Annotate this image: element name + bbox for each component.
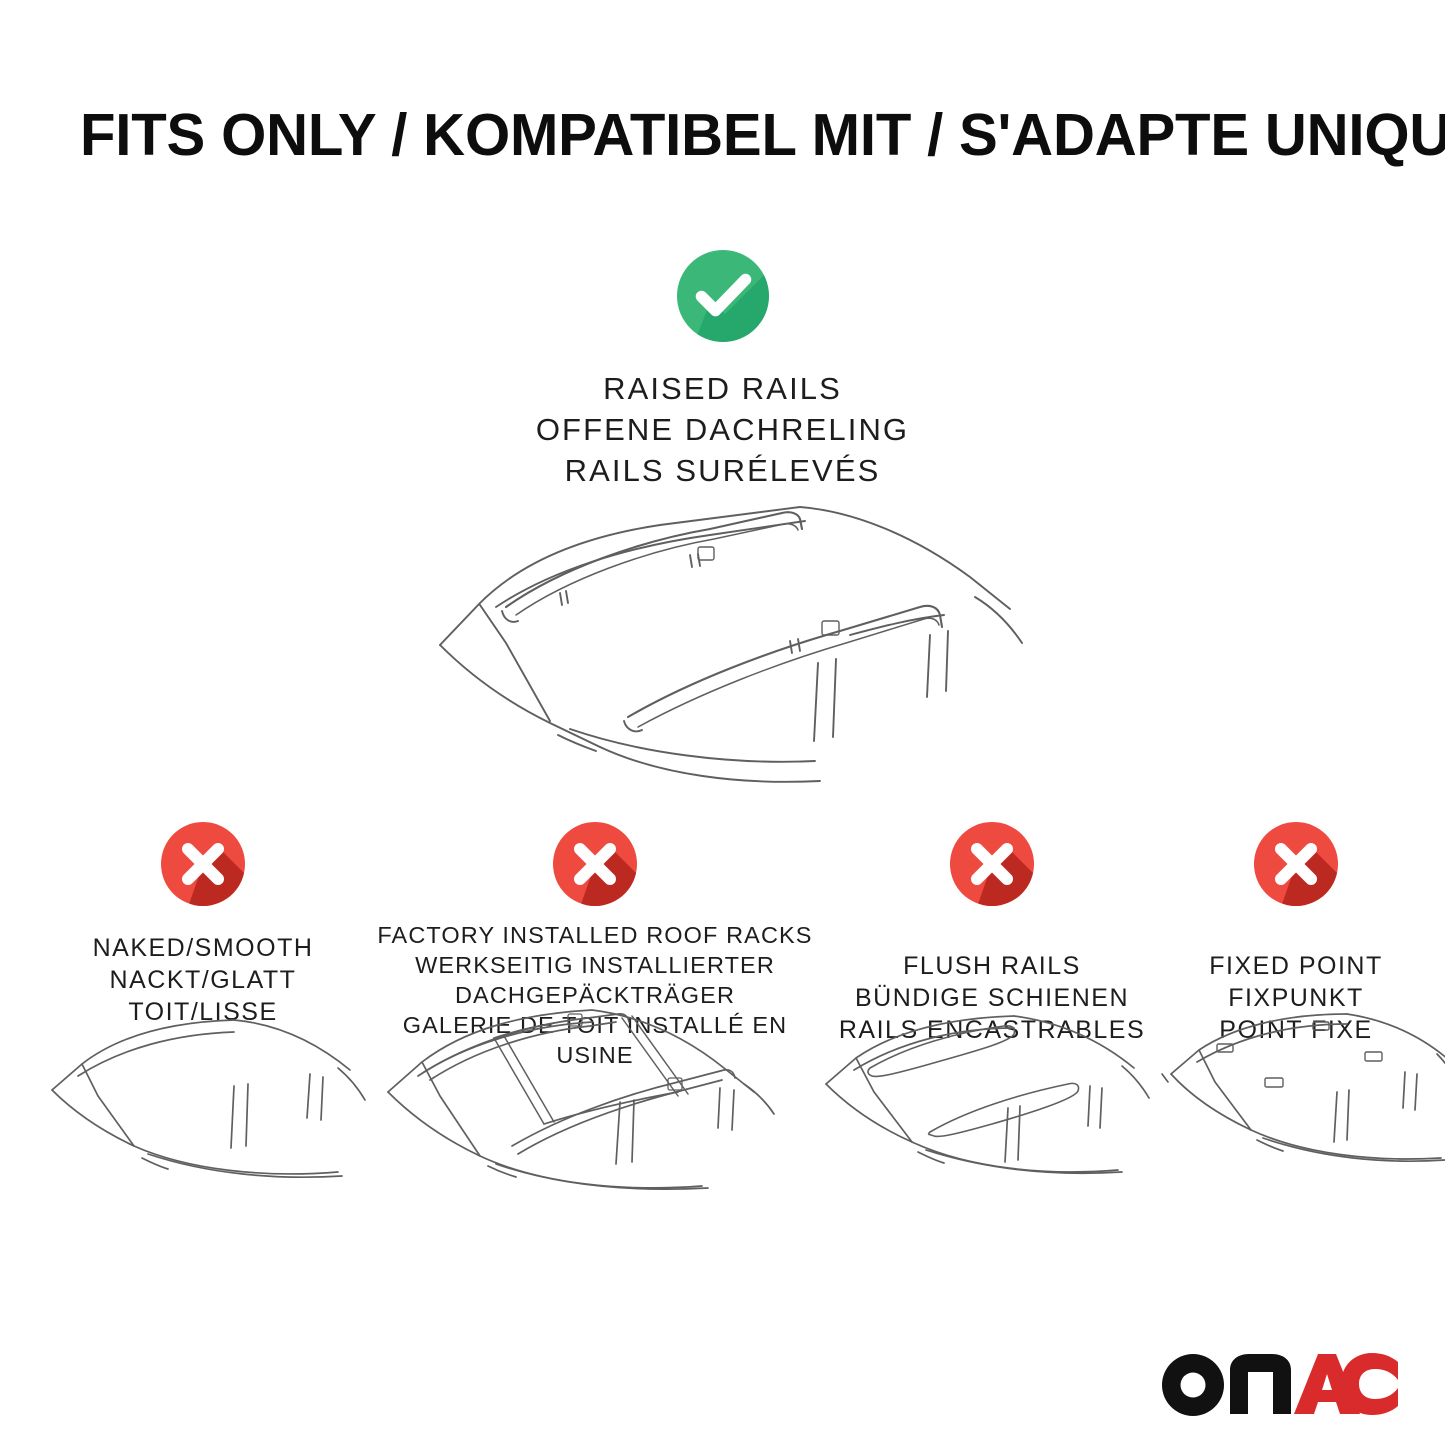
compatible-section: RAISED RAILS OFFENE DACHRELING RAILS SUR… (0, 246, 1445, 491)
check-circle-icon (673, 246, 773, 346)
option-label-line-1: NAKED/SMOOTH (38, 932, 368, 964)
car-roof-factory-racks-illustration (372, 996, 818, 1236)
omac-logo-letter-o (1162, 1354, 1224, 1416)
incompatible-option-naked-smooth: NAKED/SMOOTH NACKT/GLATT TOIT/LISSE (38, 818, 368, 1028)
compatible-label-line-2: OFFENE DACHRELING (0, 409, 1445, 450)
incompatible-sections: NAKED/SMOOTH NACKT/GLATT TOIT/LISSE (0, 818, 1445, 1238)
car-roof-naked-smooth-illustration (38, 1008, 368, 1238)
x-circle-icon (549, 818, 641, 910)
car-roof-raised-rails-illustration (410, 485, 1030, 785)
option-label-line-2: WERKSEITIG INSTALLIERTER (372, 950, 818, 980)
option-label-line-1: FACTORY INSTALLED ROOF RACKS (372, 920, 818, 950)
fitment-infographic: FITS ONLY / KOMPATIBEL MIT / S'ADAPTE UN… (0, 0, 1445, 1445)
car-roof-flush-rails-illustration (812, 1008, 1172, 1238)
omac-logo-letter-c (1341, 1353, 1398, 1415)
compatible-label-line-1: RAISED RAILS (0, 368, 1445, 409)
option-label-line-1: FLUSH RAILS (812, 950, 1172, 982)
page-title: FITS ONLY / KOMPATIBEL MIT / S'ADAPTE UN… (80, 103, 1361, 167)
x-circle-icon (1250, 818, 1342, 910)
incompatible-option-fixed-point: FIXED POINT FIXPUNKT POINT FIXE (1165, 818, 1427, 1046)
incompatible-option-flush-rails: FLUSH RAILS BÜNDIGE SCHIENEN RAILS ENCAS… (812, 818, 1172, 1046)
incompatible-option-factory-racks: FACTORY INSTALLED ROOF RACKS WERKSEITIG … (372, 818, 818, 1070)
compatible-label: RAISED RAILS OFFENE DACHRELING RAILS SUR… (0, 368, 1445, 491)
car-roof-fixed-point-illustration (1165, 1008, 1427, 1238)
omac-logo-letter-m (1230, 1354, 1291, 1414)
omac-logo (1160, 1352, 1400, 1418)
x-circle-icon (946, 818, 1038, 910)
option-label-line-1: FIXED POINT (1165, 950, 1427, 982)
x-circle-icon (157, 818, 249, 910)
option-label-line-2: NACKT/GLATT (38, 964, 368, 996)
